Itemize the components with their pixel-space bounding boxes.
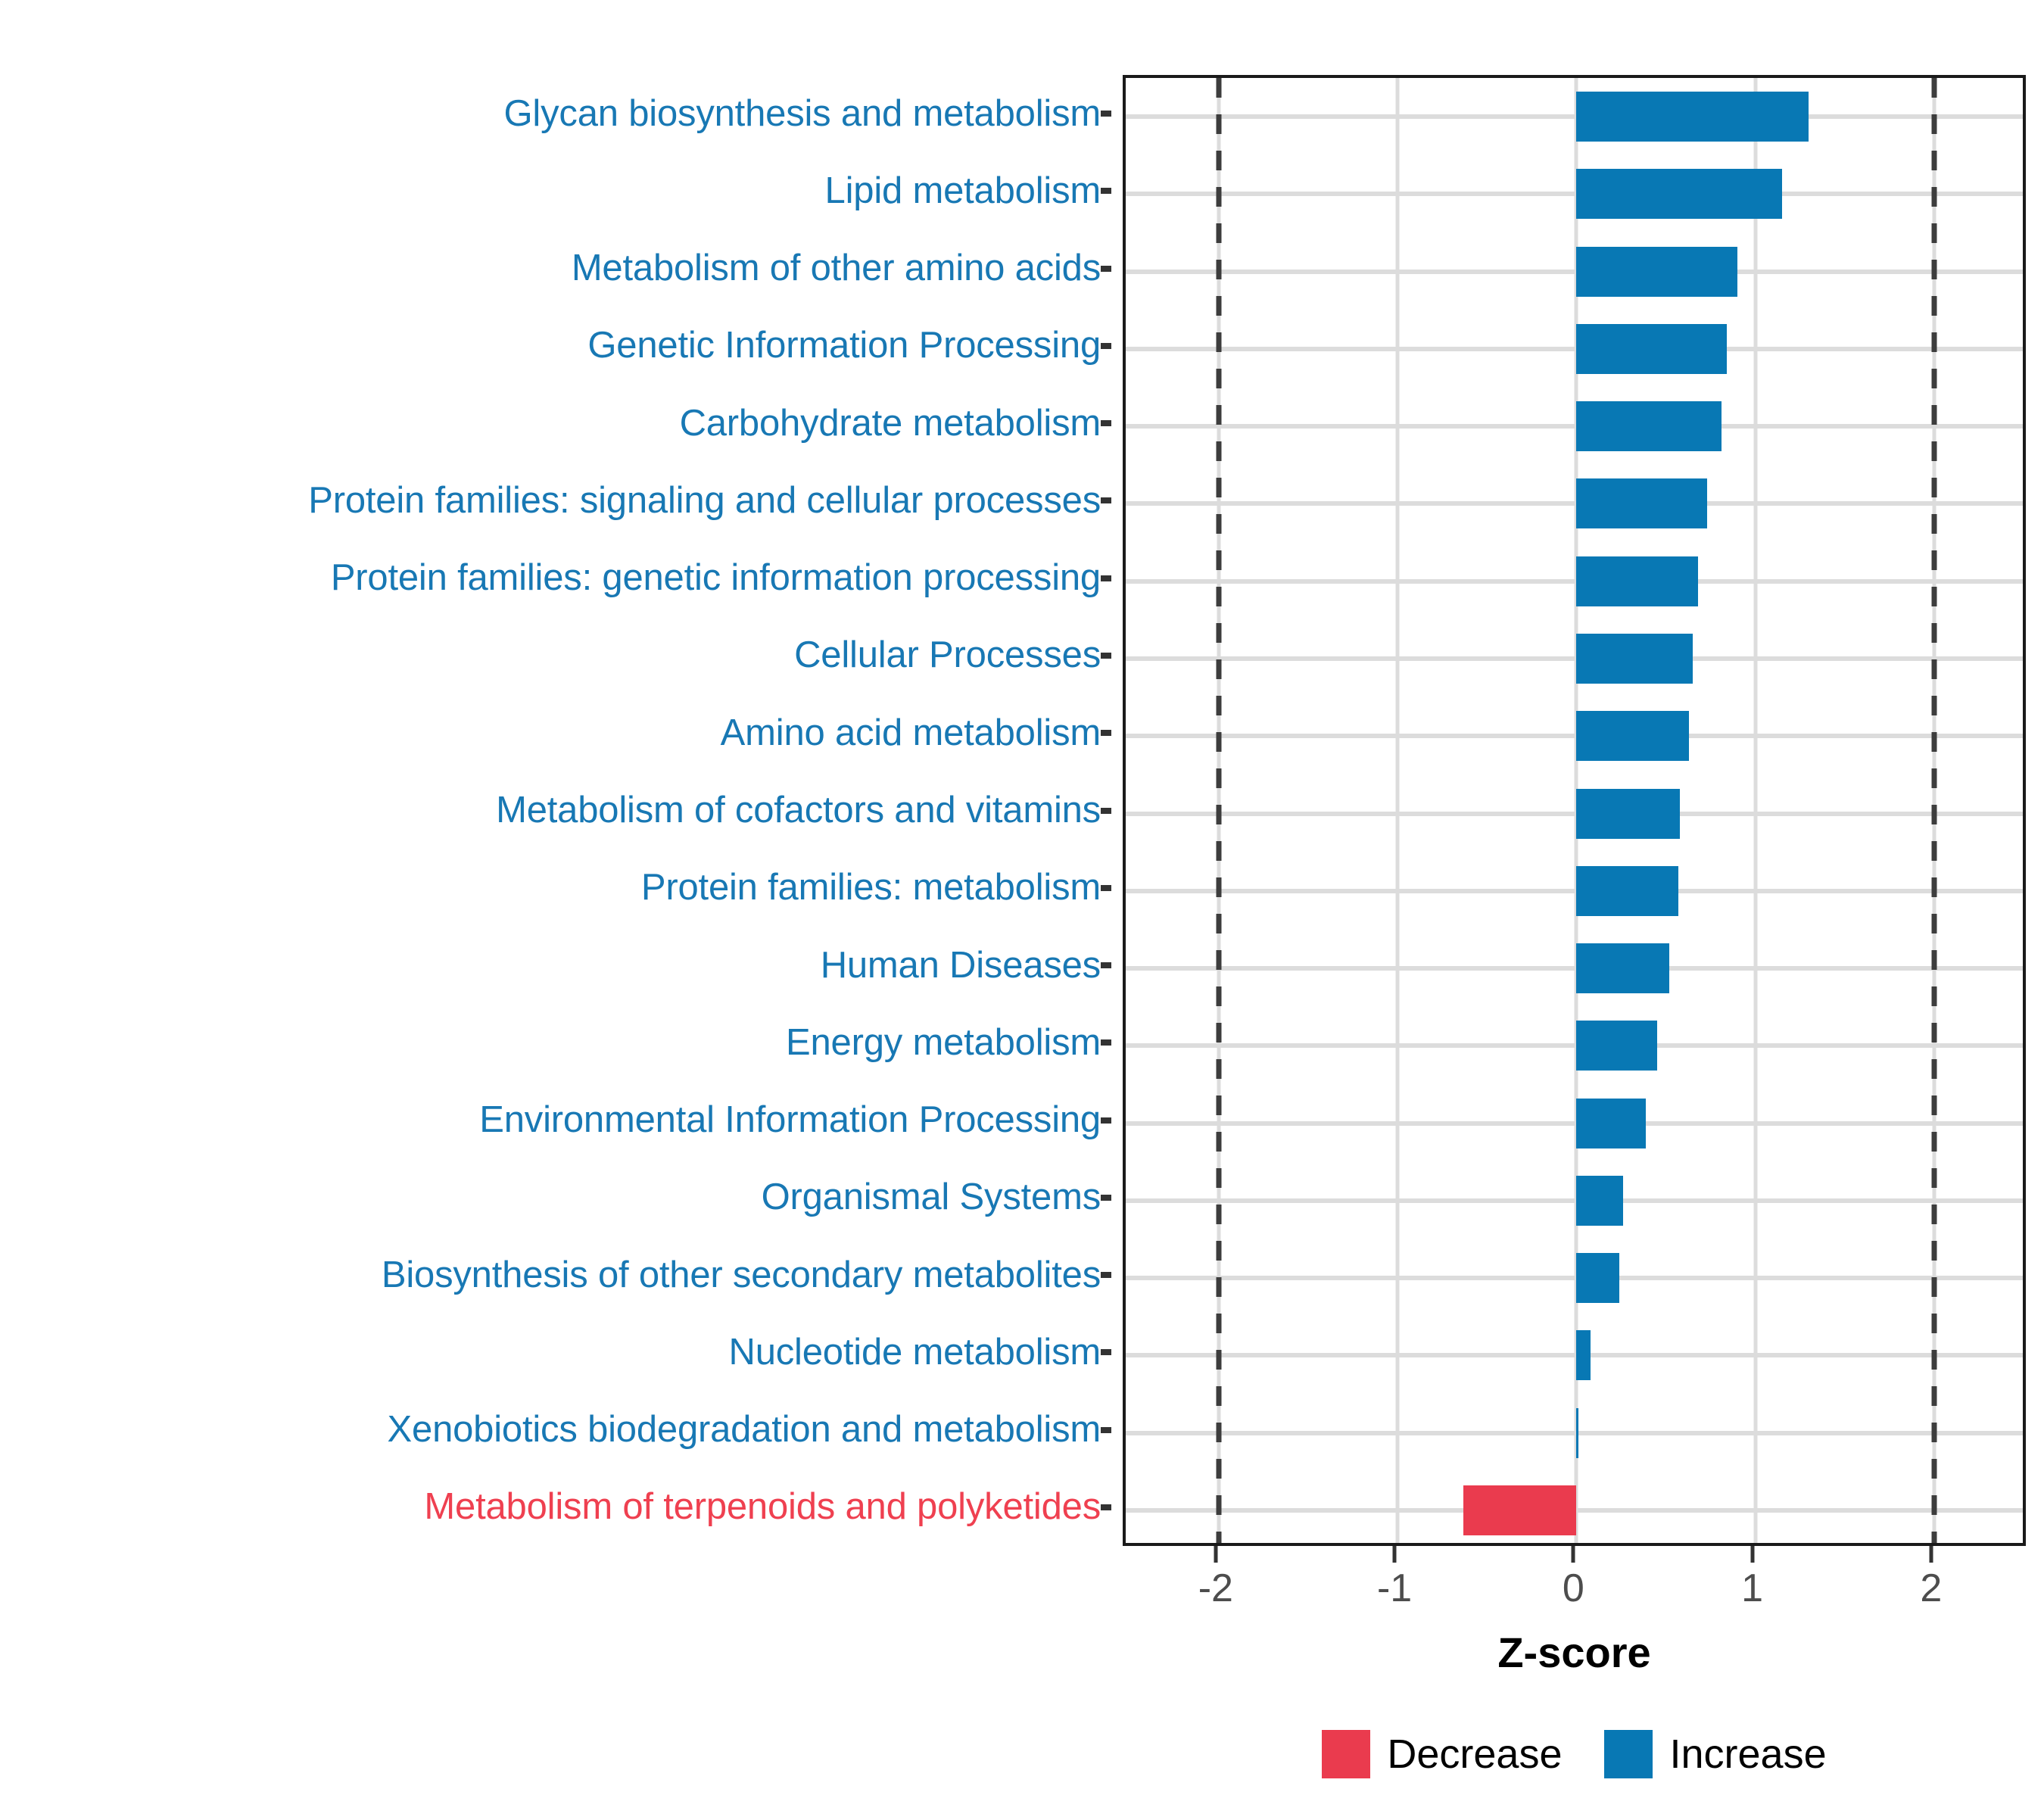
y-axis-tick [1101, 653, 1111, 659]
reference-line [1216, 78, 1221, 1543]
y-axis-tick [1101, 1039, 1111, 1046]
reference-line [1931, 78, 1937, 1543]
y-axis-tick [1101, 420, 1111, 426]
x-axis-tick-label: -1 [1377, 1566, 1412, 1611]
y-axis-category-label: Amino acid metabolism [721, 715, 1101, 752]
y-axis-tick [1101, 730, 1111, 736]
y-axis-category-row: Metabolism of cofactors and vitamins [0, 771, 1111, 849]
y-axis-category-row: Genetic Information Processing [0, 307, 1111, 385]
y-axis-tick [1101, 111, 1111, 117]
bar[interactable] [1576, 789, 1680, 839]
bar[interactable] [1576, 556, 1698, 606]
y-axis-category-label: Metabolism of cofactors and vitamins [496, 792, 1101, 829]
bar[interactable] [1576, 1099, 1646, 1148]
y-axis-tick [1101, 1117, 1111, 1124]
bar[interactable] [1576, 634, 1693, 684]
y-axis-category-label: Lipid metabolism [825, 173, 1101, 210]
legend-item-increase[interactable]: Increase [1604, 1730, 1826, 1778]
y-axis-category-row: Xenobiotics biodegradation and metabolis… [0, 1391, 1111, 1468]
y-axis-category-label: Genetic Information Processing [587, 327, 1101, 364]
y-axis-category-label: Nucleotide metabolism [729, 1334, 1101, 1371]
bar[interactable] [1576, 711, 1689, 761]
y-axis-category-row: Protein families: signaling and cellular… [0, 462, 1111, 539]
x-axis-tick [1214, 1546, 1217, 1563]
y-axis-tick [1101, 188, 1111, 194]
x-axis-tick-label: -2 [1198, 1566, 1233, 1611]
y-axis-category-row: Organismal Systems [0, 1159, 1111, 1236]
y-axis-category-label: Human Diseases [821, 947, 1101, 984]
y-axis-category-label: Protein families: genetic information pr… [331, 559, 1101, 597]
bar[interactable] [1576, 866, 1678, 916]
x-axis-title: Z-score [1123, 1628, 2026, 1677]
y-axis-category-row: Metabolism of other amino acids [0, 230, 1111, 307]
chart-figure: Glycan biosynthesis and metabolismLipid … [0, 0, 2044, 1817]
y-axis-category-row: Glycan biosynthesis and metabolism [0, 75, 1111, 152]
y-axis-category-label: Glycan biosynthesis and metabolism [504, 95, 1101, 132]
bar[interactable] [1576, 92, 1809, 142]
y-axis-category-label: Carbohydrate metabolism [680, 405, 1101, 442]
y-axis-category-row: Protein families: metabolism [0, 849, 1111, 927]
legend-swatch-decrease [1322, 1730, 1370, 1778]
bar[interactable] [1576, 247, 1737, 297]
chart-legend: DecreaseIncrease [1123, 1730, 2026, 1778]
plot-panel-inner [1126, 78, 2023, 1543]
bar[interactable] [1576, 1408, 1578, 1458]
y-axis-tick [1101, 343, 1111, 349]
x-axis-tick-label: 1 [1741, 1566, 1763, 1611]
y-axis-tick [1101, 497, 1111, 503]
y-axis-category-label: Protein families: metabolism [641, 869, 1101, 906]
bar[interactable] [1576, 401, 1721, 451]
x-axis-tick-label: 2 [1920, 1566, 1942, 1611]
y-axis-category-row: Energy metabolism [0, 1004, 1111, 1081]
y-axis-category-label: Metabolism of other amino acids [572, 250, 1101, 287]
y-axis-category-row: Human Diseases [0, 927, 1111, 1004]
bar[interactable] [1576, 478, 1706, 528]
x-axis-tick-label: 0 [1563, 1566, 1584, 1611]
y-axis-category-label: Protein families: signaling and cellular… [308, 482, 1101, 519]
y-axis-tick [1101, 575, 1111, 581]
legend-label-decrease: Decrease [1387, 1731, 1562, 1778]
y-axis-tick [1101, 885, 1111, 891]
y-axis-category-row: Environmental Information Processing [0, 1081, 1111, 1158]
y-axis-category-label: Organismal Systems [762, 1179, 1101, 1216]
vertical-gridline [1396, 78, 1400, 1543]
bar[interactable] [1576, 1330, 1591, 1380]
plot-panel [1123, 75, 2026, 1546]
y-axis-tick [1101, 962, 1111, 968]
bar[interactable] [1576, 1021, 1656, 1071]
y-axis-category-label: Environmental Information Processing [479, 1102, 1101, 1139]
y-axis-category-label: Metabolism of terpenoids and polyketides [424, 1488, 1101, 1526]
y-axis-category-row: Amino acid metabolism [0, 694, 1111, 771]
legend-item-decrease[interactable]: Decrease [1322, 1730, 1562, 1778]
legend-swatch-increase [1604, 1730, 1653, 1778]
y-axis-tick [1101, 1195, 1111, 1201]
vertical-gridline [1753, 78, 1757, 1543]
y-axis-category-row: Metabolism of terpenoids and polyketides [0, 1469, 1111, 1546]
bar[interactable] [1576, 324, 1726, 374]
x-axis-tick [1929, 1546, 1933, 1563]
bar[interactable] [1576, 943, 1669, 993]
y-axis-category-label: Xenobiotics biodegradation and metabolis… [388, 1411, 1101, 1448]
y-axis-tick [1101, 266, 1111, 272]
y-axis-tick [1101, 808, 1111, 814]
bar[interactable] [1576, 169, 1782, 219]
y-axis-category-row: Biosynthesis of other secondary metaboli… [0, 1236, 1111, 1314]
y-axis-labels: Glycan biosynthesis and metabolismLipid … [0, 75, 1111, 1546]
y-axis-category-row: Nucleotide metabolism [0, 1314, 1111, 1391]
y-axis-tick [1101, 1272, 1111, 1278]
y-axis-tick [1101, 1504, 1111, 1510]
y-axis-category-label: Biosynthesis of other secondary metaboli… [382, 1257, 1101, 1294]
legend-label-increase: Increase [1669, 1731, 1826, 1778]
y-axis-category-label: Energy metabolism [786, 1024, 1101, 1061]
y-axis-category-row: Carbohydrate metabolism [0, 385, 1111, 462]
y-axis-tick [1101, 1427, 1111, 1433]
y-axis-category-label: Cellular Processes [794, 637, 1101, 674]
bar[interactable] [1463, 1485, 1576, 1535]
x-axis-tick [1572, 1546, 1575, 1563]
y-axis-tick [1101, 1349, 1111, 1355]
x-axis-tick [1750, 1546, 1754, 1563]
x-axis-tick [1393, 1546, 1397, 1563]
y-axis-category-row: Cellular Processes [0, 617, 1111, 694]
y-axis-category-row: Lipid metabolism [0, 152, 1111, 229]
y-axis-category-row: Protein families: genetic information pr… [0, 540, 1111, 617]
bar[interactable] [1576, 1253, 1619, 1303]
bar[interactable] [1576, 1176, 1622, 1226]
